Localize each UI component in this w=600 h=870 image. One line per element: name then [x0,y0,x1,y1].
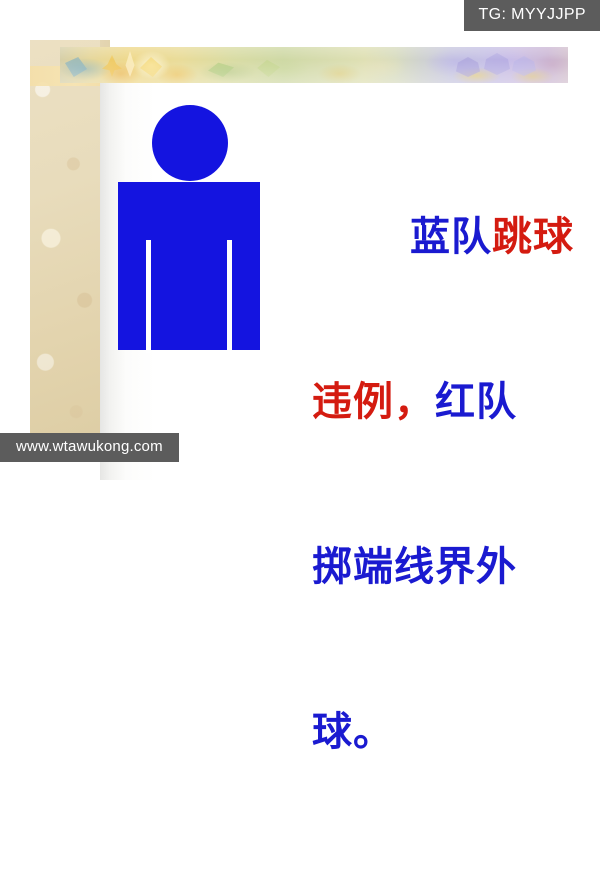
caption-line-3: 掷端线界外 [312,540,574,595]
caption-line-2: 违例，红队 [312,375,574,430]
pictogram-head-icon [152,105,228,181]
caption-line-1-blue: 蓝队 [410,214,492,260]
caption-line-2-blue: 红队 [435,379,517,425]
caption-line-4: 球。 [312,705,574,760]
caption-line-1-red: 跳球 [492,214,574,260]
pictogram-body-icon [118,182,260,350]
caption-text-block: 蓝队跳球 违例，红队 掷端线界外 球。 [312,100,574,870]
site-watermark: www.wtawukong.com [0,433,179,463]
decorative-photo-band [60,47,568,83]
caption-line-2-red: 违例， [312,379,435,425]
player-pictogram [118,105,263,353]
band-soft-overlay [60,47,568,83]
caption-line-1: 蓝队跳球 [312,210,574,265]
caption-line-4-blue: 球。 [312,709,394,755]
pictogram-right-arm-gap [227,240,232,353]
pictogram-left-arm-gap [146,240,151,353]
tg-tag-badge: TG: MYYJJPP [464,0,600,31]
frame-border-left [30,40,100,453]
caption-line-3-blue: 掷端线界外 [312,544,517,590]
slide-canvas: 蓝队跳球 违例，红队 掷端线界外 球。 TG: MYYJJPP www.wtaw… [0,0,600,480]
